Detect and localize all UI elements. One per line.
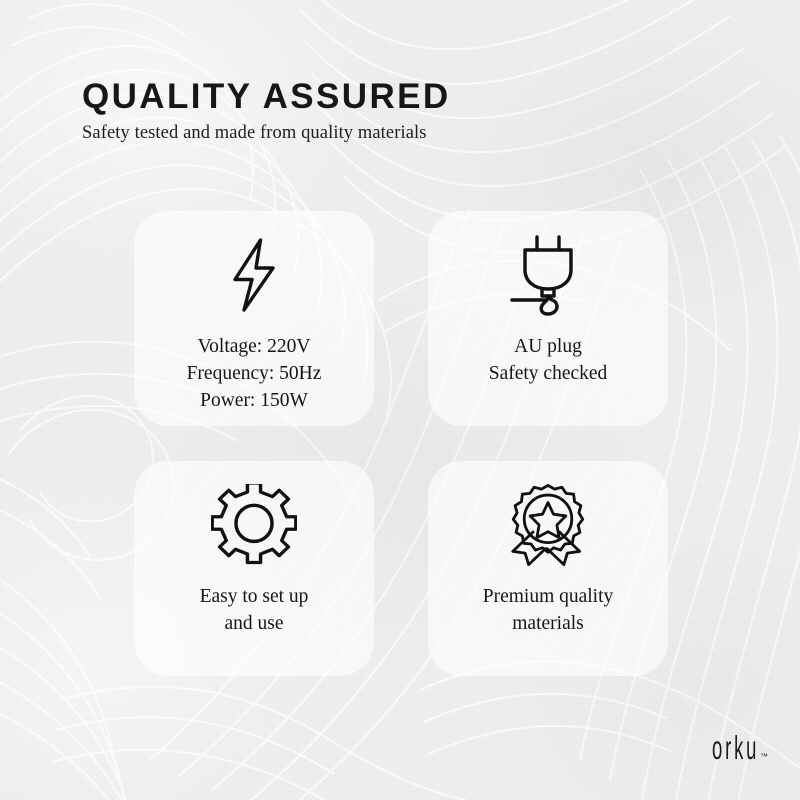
page-title: QUALITY ASSURED (82, 78, 722, 117)
feature-card-setup-text: Easy to set up and use (200, 583, 309, 637)
spec-line-frequency: Frequency: 50Hz (187, 360, 322, 387)
gear-icon (211, 479, 297, 571)
feature-card-materials: Premium quality materials (428, 461, 668, 676)
trademark-symbol: ™ (760, 753, 768, 761)
brand-wordmark: orku (712, 731, 759, 764)
award-ribbon-icon (502, 479, 594, 571)
feature-card-specs-text: Voltage: 220V Frequency: 50Hz Power: 150… (187, 333, 322, 414)
materials-line-1: Premium quality (483, 583, 614, 610)
brand-logo: orku ™ (675, 731, 768, 764)
feature-card-specs: Voltage: 220V Frequency: 50Hz Power: 150… (134, 211, 374, 426)
feature-card-plug-text: AU plug Safety checked (489, 333, 608, 387)
setup-line-1: Easy to set up (200, 583, 309, 610)
page-subtitle: Safety tested and made from quality mate… (82, 123, 722, 144)
feature-card-setup: Easy to set up and use (134, 461, 374, 676)
infographic-content: QUALITY ASSURED Safety tested and made f… (0, 0, 800, 800)
feature-card-materials-text: Premium quality materials (483, 583, 614, 637)
materials-line-2: materials (483, 610, 614, 637)
feature-card-grid: Voltage: 220V Frequency: 50Hz Power: 150… (134, 211, 668, 676)
spec-line-voltage: Voltage: 220V (187, 333, 322, 360)
spec-line-power: Power: 150W (187, 387, 322, 414)
feature-card-plug: AU plug Safety checked (428, 211, 668, 426)
plug-line-2: Safety checked (489, 360, 608, 387)
lightning-bolt-icon (219, 229, 289, 321)
power-plug-icon (506, 229, 590, 321)
setup-line-2: and use (200, 610, 309, 637)
header: QUALITY ASSURED Safety tested and made f… (82, 78, 722, 144)
plug-line-1: AU plug (489, 333, 608, 360)
